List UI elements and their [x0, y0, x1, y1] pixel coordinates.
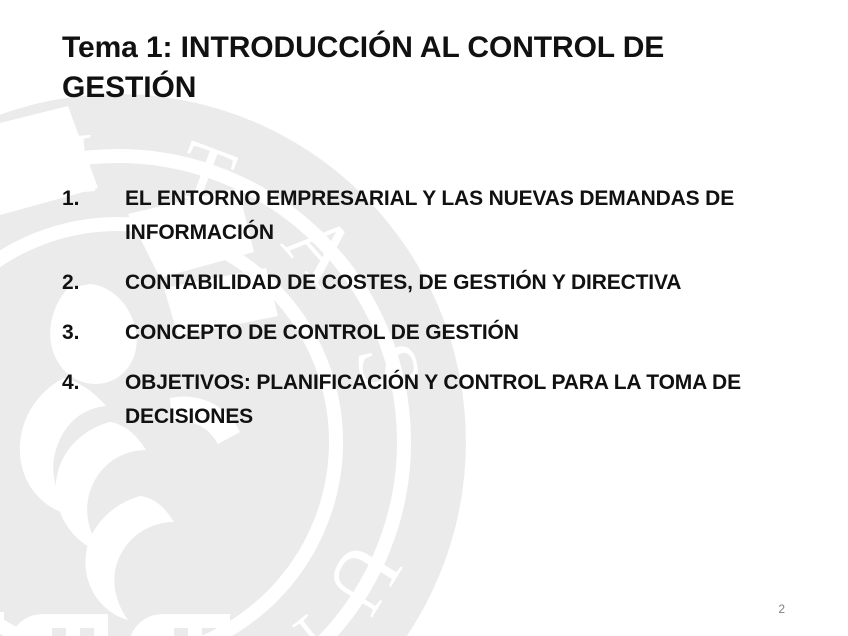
outline-list: 1. EL ENTORNO EMPRESARIAL Y LAS NUEVAS D…: [62, 182, 822, 434]
list-item-text: OBJETIVOS: PLANIFICACIÓN Y CONTROL PARA …: [125, 366, 822, 434]
list-item-number: 4.: [62, 366, 125, 400]
list-item-text: CONCEPTO DE CONTROL DE GESTIÓN: [125, 316, 822, 350]
list-item-number: 3.: [62, 316, 125, 350]
list-item: 4. OBJETIVOS: PLANIFICACIÓN Y CONTROL PA…: [62, 366, 822, 434]
list-item: 2. CONTABILIDAD DE COSTES, DE GESTIÓN Y …: [62, 266, 822, 300]
list-item-text: CONTABILIDAD DE COSTES, DE GESTIÓN Y DIR…: [125, 266, 822, 300]
slide-content: Tema 1: INTRODUCCIÓN AL CONTROL DE GESTI…: [0, 0, 848, 636]
list-item-number: 2.: [62, 266, 125, 300]
slide-canvas: R S I T A S UNIVE: [0, 0, 848, 636]
list-item: 3. CONCEPTO DE CONTROL DE GESTIÓN: [62, 316, 822, 350]
page-title: Tema 1: INTRODUCCIÓN AL CONTROL DE GESTI…: [62, 28, 782, 107]
list-item-number: 1.: [62, 182, 125, 216]
list-item: 1. EL ENTORNO EMPRESARIAL Y LAS NUEVAS D…: [62, 182, 822, 250]
list-item-text: EL ENTORNO EMPRESARIAL Y LAS NUEVAS DEMA…: [125, 182, 822, 250]
page-number: 2: [778, 602, 785, 616]
